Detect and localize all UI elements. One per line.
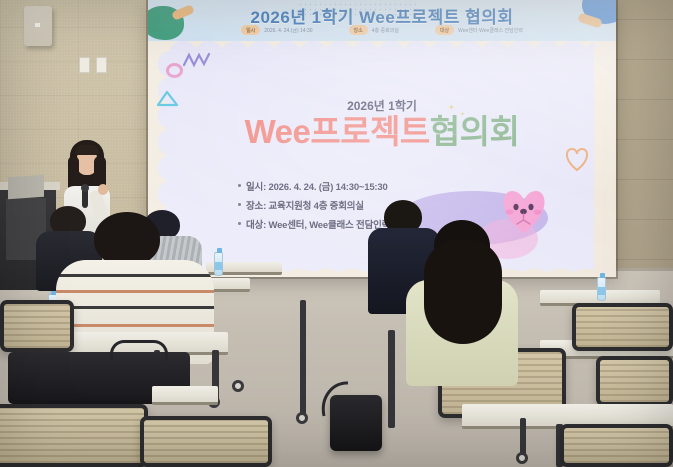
presenter-fringe	[75, 145, 99, 155]
chair[interactable]	[572, 303, 673, 351]
chair[interactable]	[140, 416, 272, 467]
wall-speaker-icon	[24, 6, 52, 46]
presenter-hand	[98, 184, 108, 195]
desk	[152, 386, 218, 405]
light-switch-icon[interactable]	[96, 57, 107, 73]
water-bottle[interactable]	[597, 277, 606, 301]
chair[interactable]	[560, 424, 673, 467]
light-switch-icon[interactable]	[79, 57, 90, 73]
chair[interactable]	[0, 300, 74, 352]
hair	[424, 240, 502, 344]
conference-room-photo: 2026년 1학기 Wee프로젝트 협의회 일시 2026. 4. 24.(금)…	[0, 0, 673, 467]
bag-handle[interactable]	[110, 340, 168, 361]
bag-strap	[318, 378, 378, 418]
caster-wheel	[296, 412, 308, 424]
microphone-head-icon	[81, 184, 89, 192]
head	[94, 212, 160, 266]
laptop	[8, 175, 44, 200]
chair-leg	[300, 300, 306, 418]
attendee	[400, 222, 520, 382]
chair[interactable]	[596, 356, 673, 406]
chair-leg	[388, 330, 395, 428]
chair[interactable]	[0, 404, 148, 467]
right-wall	[612, 0, 673, 300]
caster-wheel	[516, 452, 528, 464]
caster-wheel	[232, 380, 244, 392]
